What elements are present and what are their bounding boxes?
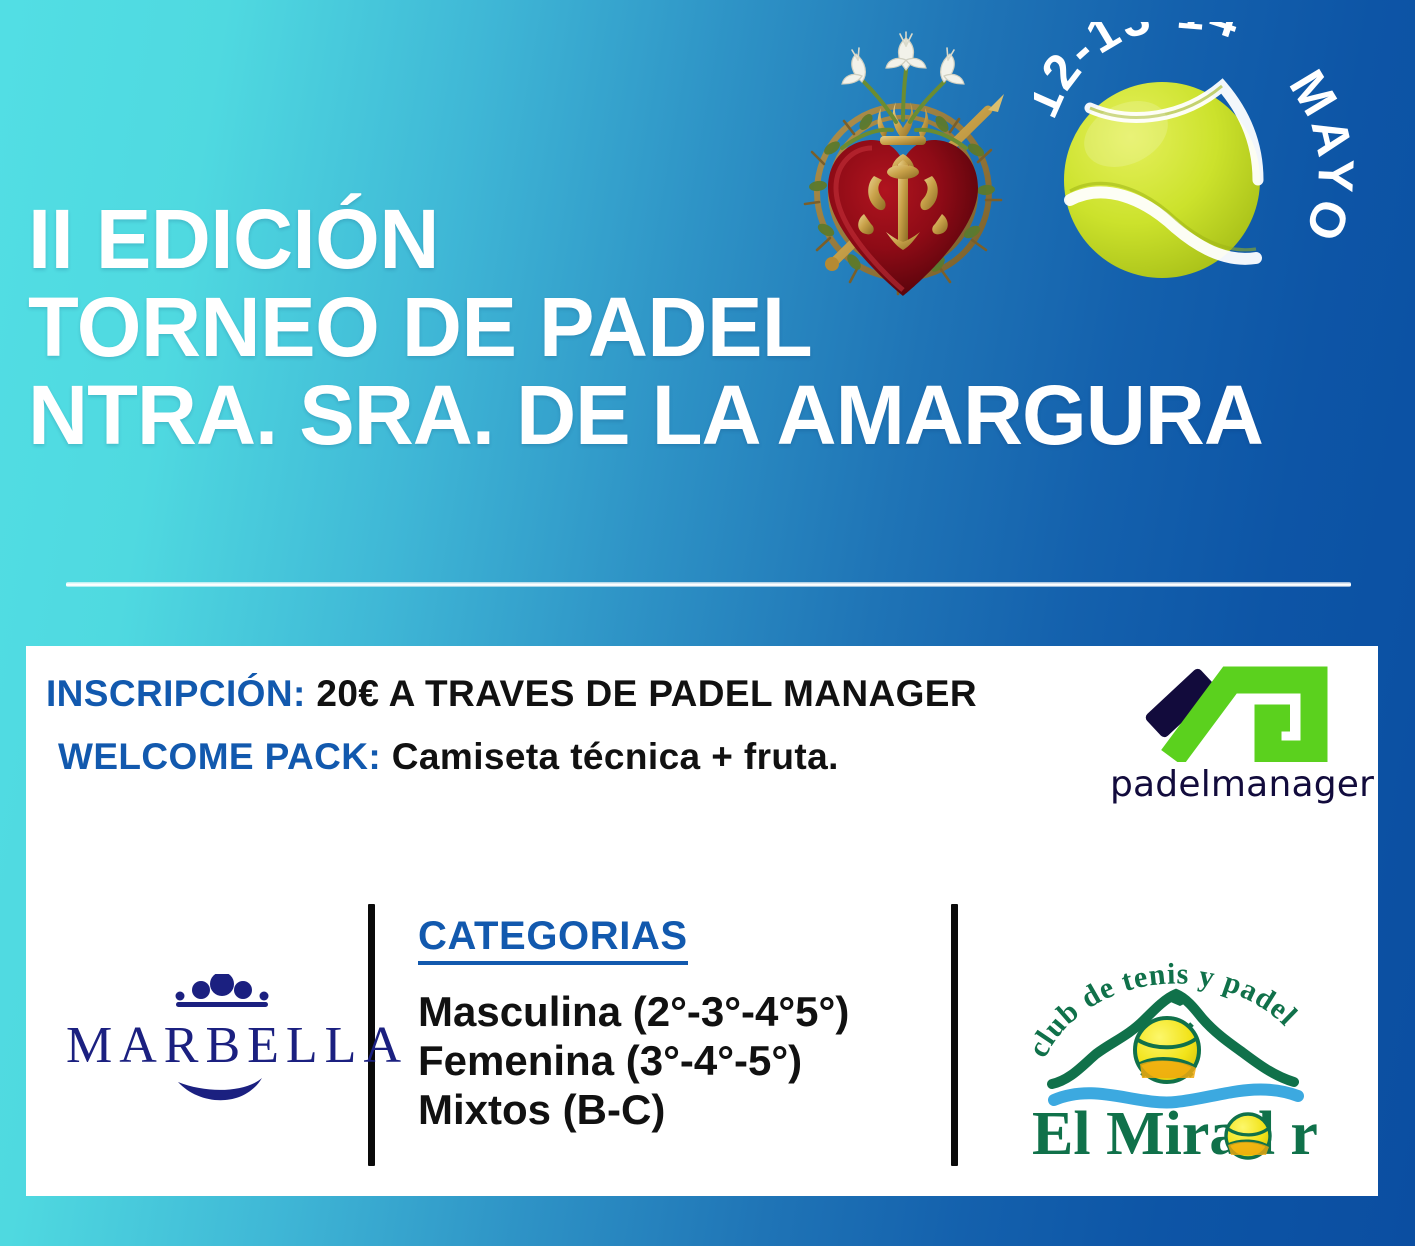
inscripcion-row: INSCRIPCIÓN: 20€ A TRAVES DE PADEL MANAG… xyxy=(46,673,977,715)
categoria-item: Masculina (2°-3°-4°5°) xyxy=(418,987,938,1036)
page-title: II EDICIÓN TORNEO DE PADEL NTRA. SRA. DE… xyxy=(28,196,1388,459)
poster-canvas: 12-13-14 MAYO II EDICIÓN TORNEO DE PADEL… xyxy=(0,0,1415,1246)
welcome-pack-label: WELCOME PACK: xyxy=(58,736,381,777)
marbella-swoosh-icon xyxy=(178,1078,262,1100)
divider-right xyxy=(951,904,958,1166)
padelmanager-mark-icon xyxy=(1144,666,1334,762)
marbella-logo: MARBELLA xyxy=(66,974,372,1114)
welcome-pack-value: Camiseta técnica + fruta. xyxy=(392,736,839,777)
welcome-pack-row: WELCOME PACK: Camiseta técnica + fruta. xyxy=(58,736,839,778)
el-mirador-logo: club de tenis y padel El Mirad r xyxy=(1016,954,1336,1160)
title-line-1: II EDICIÓN xyxy=(28,196,1374,284)
categoria-item: Femenina (3°-4°-5°) xyxy=(418,1036,938,1085)
categorias-heading: CATEGORIAS xyxy=(418,914,688,965)
title-line-2: TORNEO DE PADEL xyxy=(28,284,1374,372)
categorias-block: CATEGORIAS Masculina (2°-3°-4°5°) Femeni… xyxy=(418,914,938,1134)
info-panel: INSCRIPCIÓN: 20€ A TRAVES DE PADEL MANAG… xyxy=(26,646,1378,1196)
marbella-wordmark: MARBELLA xyxy=(66,1016,372,1075)
inscripcion-label: INSCRIPCIÓN: xyxy=(46,673,306,714)
padelmanager-wordmark: padelmanager xyxy=(1110,764,1372,805)
mirador-wordmark: El Mirad r xyxy=(1032,1100,1318,1160)
title-line-3: NTRA. SRA. DE LA AMARGURA xyxy=(28,372,1374,460)
title-divider xyxy=(66,582,1351,587)
categoria-item: Mixtos (B-C) xyxy=(418,1085,938,1134)
inscripcion-value: 20€ A TRAVES DE PADEL MANAGER xyxy=(316,673,977,714)
padelmanager-logo: padelmanager xyxy=(1110,652,1372,822)
